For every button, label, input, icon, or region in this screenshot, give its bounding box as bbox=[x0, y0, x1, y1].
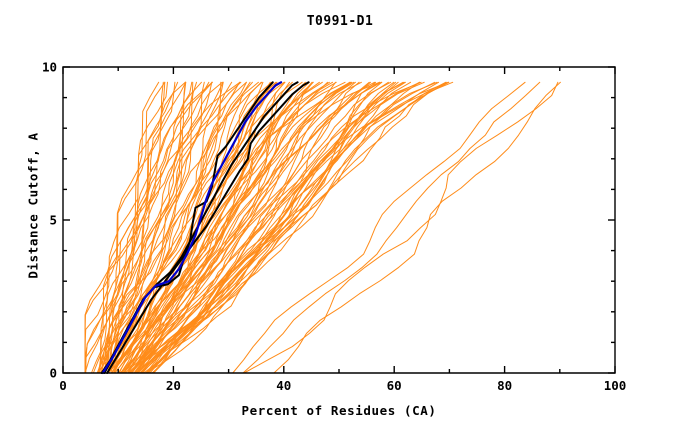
x-tick-label: 60 bbox=[387, 378, 402, 393]
model-curve-left bbox=[85, 82, 165, 373]
model-curve-outlier bbox=[274, 82, 560, 373]
plot-area bbox=[0, 0, 680, 440]
y-tick-label: 0 bbox=[49, 366, 57, 381]
chart-figure: T0991-D1 Distance Cutoff, A Percent of R… bbox=[0, 0, 680, 440]
y-tick-label: 5 bbox=[49, 213, 57, 228]
model-curve bbox=[131, 82, 376, 373]
x-tick-label: 80 bbox=[497, 378, 512, 393]
x-tick-label: 40 bbox=[276, 378, 291, 393]
x-tick-label: 20 bbox=[166, 378, 181, 393]
model-curve bbox=[103, 82, 232, 373]
curves-layer bbox=[85, 82, 560, 373]
x-tick-label: 100 bbox=[604, 378, 627, 393]
x-tick-label: 0 bbox=[59, 378, 67, 393]
y-tick-label: 10 bbox=[42, 60, 57, 75]
